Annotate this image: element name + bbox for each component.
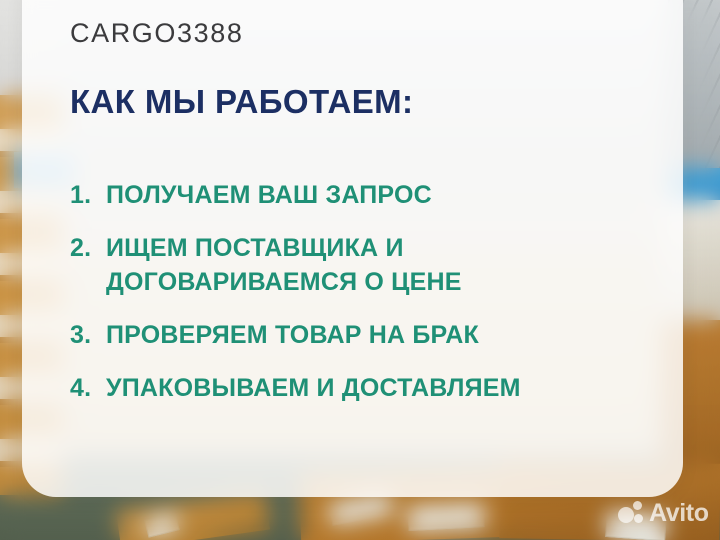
step-number: 2. — [70, 231, 106, 265]
advertisement-image: CARGO3388 КАК МЫ РАБОТАЕМ: 1. ПОЛУЧАЕМ В… — [0, 0, 720, 540]
page-title: КАК МЫ РАБОТАЕМ: — [70, 83, 413, 121]
steps-list: 1. ПОЛУЧАЕМ ВАШ ЗАПРОС 2. ИЩЕМ ПОСТАВЩИК… — [70, 178, 670, 424]
list-item: 4. УПАКОВЫВАЕМ И ДОСТАВЛЯЕМ — [70, 371, 670, 405]
list-item: 3. ПРОВЕРЯЕМ ТОВАР НА БРАК — [70, 318, 670, 352]
step-label: УПАКОВЫВАЕМ И ДОСТАВЛЯЕМ — [106, 371, 521, 405]
step-number: 1. — [70, 178, 106, 212]
list-item: 1. ПОЛУЧАЕМ ВАШ ЗАПРОС — [70, 178, 670, 212]
avito-dots-icon — [618, 500, 645, 527]
step-label: ИЩЕМ ПОСТАВЩИКА И ДОГОВАРИВАЕМСЯ О ЦЕНЕ — [106, 231, 626, 299]
avito-watermark: Avito — [618, 500, 709, 527]
list-item: 2. ИЩЕМ ПОСТАВЩИКА И ДОГОВАРИВАЕМСЯ О ЦЕ… — [70, 231, 670, 299]
step-label: ПРОВЕРЯЕМ ТОВАР НА БРАК — [106, 318, 479, 352]
step-label: ПОЛУЧАЕМ ВАШ ЗАПРОС — [106, 178, 432, 212]
brand-logo: CARGO3388 — [70, 18, 243, 49]
avito-wordmark: Avito — [649, 501, 709, 526]
step-number: 4. — [70, 371, 106, 405]
step-number: 3. — [70, 318, 106, 352]
